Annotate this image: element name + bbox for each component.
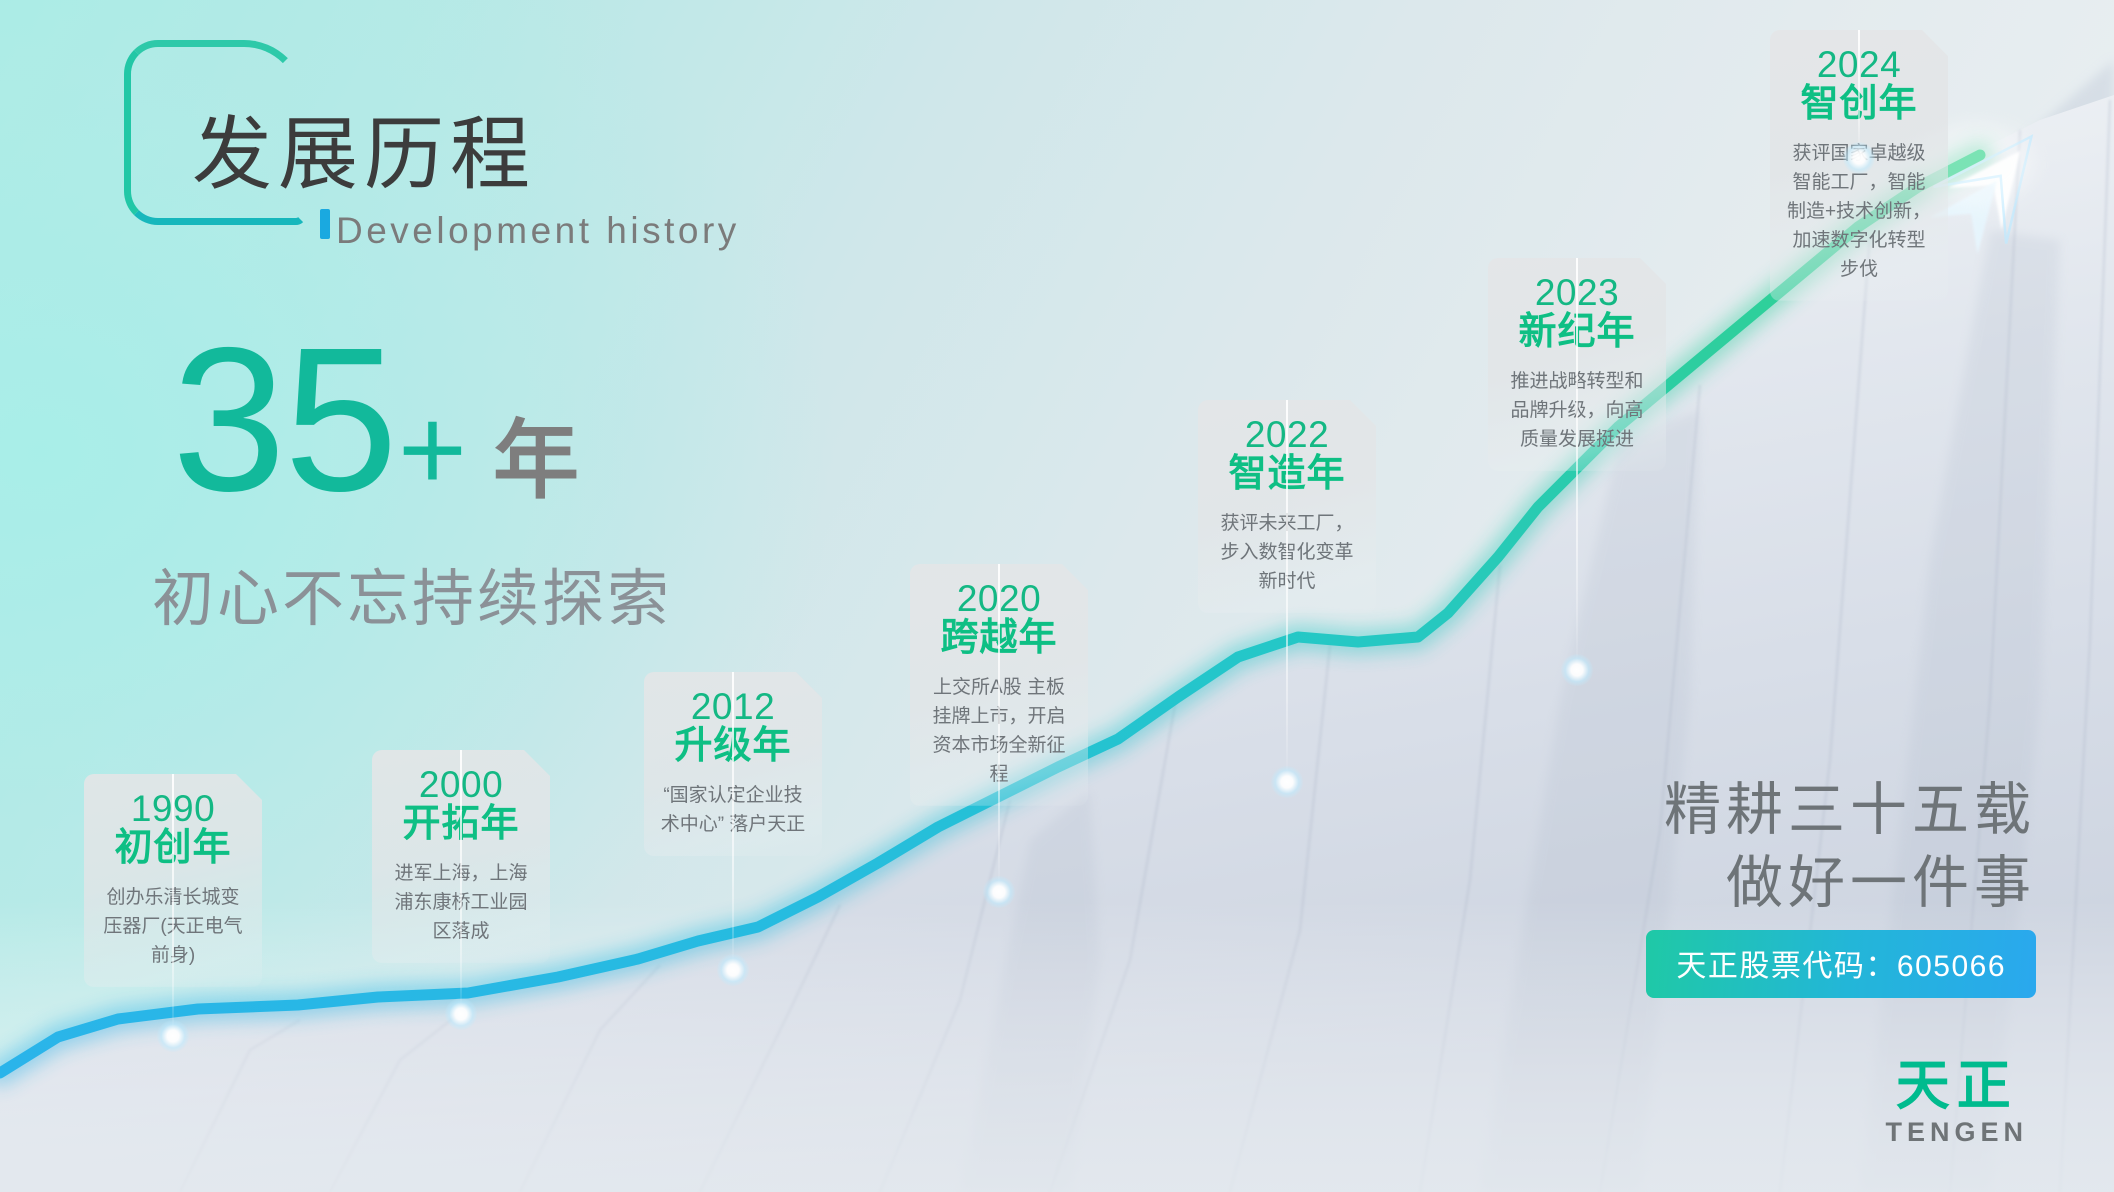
milestone-stem xyxy=(1858,30,1860,150)
milestone-glow-node xyxy=(717,954,749,986)
tengen-logo: 天正 TENGEN xyxy=(1885,1059,2028,1148)
years-unit: 年 xyxy=(493,390,579,515)
milestone-glow-node xyxy=(1561,654,1593,686)
milestone-glow-node xyxy=(445,998,477,1030)
milestone-stem xyxy=(998,564,1000,884)
milestone-glow-node xyxy=(983,876,1015,908)
years-plus-sign: + xyxy=(398,382,467,518)
stock-code-badge: 天正股票代码：605066 xyxy=(1646,930,2036,998)
bracket-tick-icon xyxy=(320,209,330,239)
milestone-2020[interactable]: 2020 跨越年 上交所A股 主板挂牌上市，开启资本市场全新征程 xyxy=(910,564,1088,806)
milestone-glow-node xyxy=(1271,766,1303,798)
milestone-glow-node xyxy=(157,1020,189,1052)
years-number: 35 xyxy=(172,332,396,508)
milestone-1990[interactable]: 1990 初创年 创办乐清长城变压器厂(天正电气前身) xyxy=(84,774,262,987)
milestone-stem xyxy=(460,750,462,1006)
slogan-block: 精耕三十五载 做好一件事 xyxy=(1664,774,2036,920)
milestone-stem xyxy=(1286,400,1288,774)
slogan-line-1: 精耕三十五载 xyxy=(1664,774,2036,847)
milestone-stem xyxy=(1576,258,1578,662)
slogan-line-2: 做好一件事 xyxy=(1664,847,2036,920)
milestone-stem xyxy=(172,774,174,1028)
milestone-2022[interactable]: 2022 智造年 获评未来工厂，步入数智化变革新时代 xyxy=(1198,400,1376,613)
milestone-2000[interactable]: 2000 开拓年 进军上海，上海浦东康桥工业园区落成 xyxy=(372,750,550,963)
years-stat: 35+年 xyxy=(172,332,579,518)
milestone-2024[interactable]: 2024 智创年 获评国家卓越级智能工厂，智能制造+技术创新，加速数字化转型步伐 xyxy=(1770,30,1948,301)
page-title: 发展历程 xyxy=(192,90,536,206)
page-subtitle: Development history xyxy=(336,210,740,252)
milestone-2023[interactable]: 2023 新纪年 推进战略转型和品牌升级，向高质量发展挺进 xyxy=(1488,258,1666,471)
milestone-glow-node xyxy=(1843,142,1875,174)
logo-chinese-name: 天正 xyxy=(1885,1059,2028,1113)
stat-subtitle: 初心不忘持续探索 xyxy=(152,548,672,638)
milestone-2012[interactable]: 2012 升级年 “国家认定企业技术中心” 落户天正 xyxy=(644,672,822,856)
milestone-stem xyxy=(732,672,734,962)
logo-english-name: TENGEN xyxy=(1885,1117,2028,1148)
infographic-canvas: 发展历程 Development history 35+年 初心不忘持续探索 1… xyxy=(0,0,2114,1192)
